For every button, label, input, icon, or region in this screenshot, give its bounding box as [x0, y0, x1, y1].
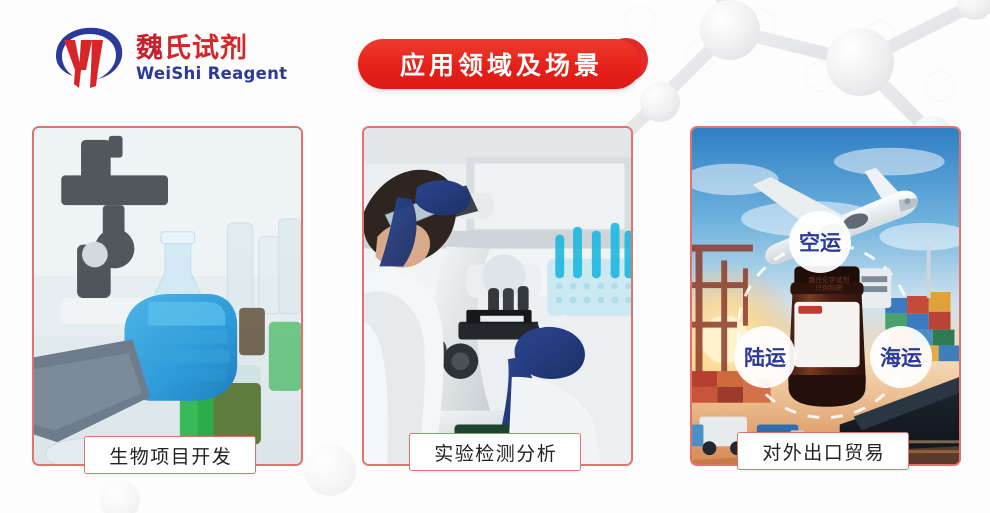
page-header: 魏氏试剂 WeiShi Reagent 应用领域及场景: [0, 0, 990, 120]
card-label-lab-testing-analysis[interactable]: 实验检测分析: [409, 433, 581, 471]
brand-name-cn-first: 魏: [136, 33, 164, 64]
freight-badge-land: 陆运: [734, 326, 796, 388]
freight-badge-sea: 海运: [870, 326, 932, 388]
bottle-label-line1: 魏氏化学试剂: [798, 276, 860, 284]
bottle-label-line2: 只供科研: [798, 284, 860, 292]
freight-badge-land-label: 陆运: [744, 342, 786, 372]
card-label-text: 对外出口贸易: [761, 438, 886, 465]
section-title: 应用领域及场景: [396, 46, 603, 82]
brand-name-cn: 魏氏试剂: [136, 35, 287, 62]
application-cards: 空运 陆运 海运 魏氏化学试剂 只供科研: [0, 126, 990, 476]
section-title-pill: 应用领域及场景: [358, 39, 641, 89]
card-label-bio-project-development[interactable]: 生物项目开发: [84, 436, 256, 474]
bottle-label-text: 魏氏化学试剂 只供科研: [798, 276, 860, 292]
card-label-export-trade[interactable]: 对外出口贸易: [737, 432, 909, 470]
photo-air-land-sea-logistics: [692, 128, 959, 464]
freight-badge-sea-label: 海运: [880, 342, 922, 372]
card-bio-project-development[interactable]: [32, 126, 303, 466]
freight-badge-air: 空运: [789, 211, 851, 273]
brand-name-cn-rest: 氏试剂: [164, 33, 248, 64]
brand-logo[interactable]: 魏氏试剂 WeiShi Reagent: [48, 20, 288, 96]
photo-gloved-hand-blue-flask: [34, 128, 301, 464]
weishi-w-logo-icon: [48, 22, 128, 94]
freight-badge-air-label: 空运: [799, 227, 841, 257]
photo-scientist-at-microscope: [364, 128, 631, 464]
card-lab-testing-analysis[interactable]: [362, 126, 633, 466]
card-label-text: 生物项目开发: [108, 442, 233, 469]
card-label-text: 实验检测分析: [433, 439, 558, 466]
card-export-trade[interactable]: 空运 陆运 海运 魏氏化学试剂 只供科研: [690, 126, 961, 466]
brand-name-en: WeiShi Reagent: [136, 66, 287, 83]
